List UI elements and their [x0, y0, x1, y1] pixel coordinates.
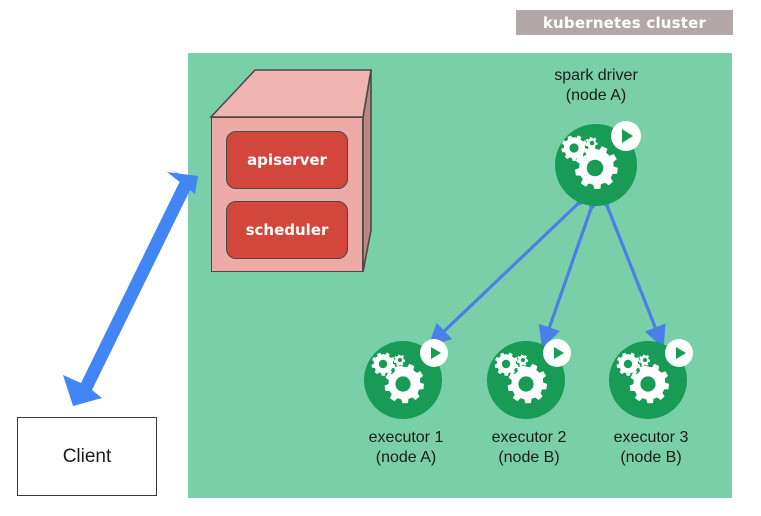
kubernetes-cluster-banner: kubernetes cluster [516, 10, 733, 35]
node-executor-3[interactable] [607, 333, 695, 421]
play-icon[interactable] [420, 339, 448, 367]
kubernetes-cluster-banner-label: kubernetes cluster [543, 14, 706, 32]
executor-3-label: executor 3 (node B) [571, 428, 731, 468]
scheduler-block-label: scheduler [246, 221, 329, 239]
spark-submit-label: spark-submit [78, 94, 165, 233]
client-box[interactable]: Client [17, 417, 157, 496]
play-icon[interactable] [611, 121, 641, 151]
play-icon[interactable] [543, 339, 571, 367]
apiserver-block: apiserver [226, 131, 348, 189]
diagram-canvas: kubernetes cluster apiserver scheduler s… [0, 0, 761, 516]
node-executor-1[interactable] [362, 333, 450, 421]
spark-driver-title: spark driver [516, 66, 676, 86]
node-executor-2[interactable] [485, 333, 573, 421]
play-icon[interactable] [665, 339, 693, 367]
spark-driver-subtitle: (node A) [516, 86, 676, 106]
client-label: Client [63, 446, 112, 468]
executor-3-subtitle: (node B) [571, 448, 731, 468]
apiserver-block-label: apiserver [247, 151, 327, 169]
scheduler-block: scheduler [226, 201, 348, 259]
node-spark-driver[interactable] [551, 114, 643, 206]
control-plane-front-face: apiserver scheduler [211, 117, 363, 272]
spark-driver-label: spark driver (node A) [516, 66, 676, 106]
control-plane-box: apiserver scheduler [205, 62, 377, 280]
executor-3-title: executor 3 [571, 428, 731, 448]
